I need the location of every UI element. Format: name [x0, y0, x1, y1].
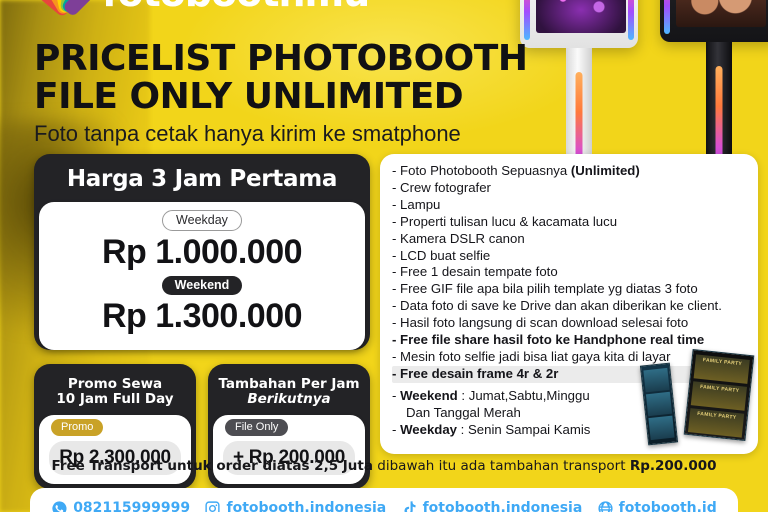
- photobooth-head: [520, 0, 638, 48]
- transport-bold-1: Free Transport untuk order diatas 2,5 Ju…: [51, 458, 373, 474]
- promo-title-line-1: Tambahan Per Jam: [218, 376, 359, 392]
- social-link-tiktok[interactable]: fotobooth.indonesia: [401, 500, 583, 512]
- social-footer: 082115999999fotobooth.indonesiafotobooth…: [30, 488, 738, 512]
- weekday-row: Weekday: [39, 210, 365, 231]
- whatsapp-icon: [51, 500, 68, 512]
- feature-item: - Hasil foto langsung di scan download s…: [392, 315, 748, 332]
- feature-item: - Lampu: [392, 197, 748, 214]
- feature-item: - Free GIF file apa bila pilih template …: [392, 281, 748, 298]
- feature-item: - Free file share hasil foto ke Handphon…: [392, 332, 748, 349]
- feature-emphasis: (Unlimited): [571, 163, 640, 178]
- features-panel: - Foto Photobooth Sepuasnya (Unlimited)-…: [380, 154, 758, 454]
- promo-badge: File Only: [225, 419, 288, 436]
- promo-title: Tambahan Per Jam Berikutnya: [208, 370, 370, 415]
- photo-strip-vertical: [640, 363, 678, 446]
- main-price-title: Harga 3 Jam Pertama: [34, 160, 370, 202]
- promo-badge-row: Promo: [39, 415, 191, 441]
- transport-note: Free Transport untuk order diatas 2,5 Ju…: [0, 458, 768, 474]
- page-title: PRICELIST PHOTOBOOTH FILE ONLY UNLIMITED…: [34, 40, 527, 147]
- led-strip-right: [628, 0, 634, 40]
- photobooth-screen: [536, 0, 626, 33]
- promo-title: Promo Sewa 10 Jam Full Day: [34, 370, 196, 415]
- photobooth-head: [660, 0, 768, 42]
- weekend-badge: Weekend: [162, 276, 243, 295]
- feature-item: - Properti tulisan lucu & kacamata lucu: [392, 214, 748, 231]
- sample-photo-strips: FAMILY PARTY FAMILY PARTY FAMILY PARTY: [642, 356, 750, 448]
- photo-strip-frame: FAMILY PARTY FAMILY PARTY FAMILY PARTY: [684, 349, 755, 441]
- weekend-price: Rp 1.300.000: [39, 297, 365, 336]
- weekday-price: Rp 1.000.000: [39, 233, 365, 272]
- led-strip-left: [664, 0, 670, 34]
- promo-title-line-2: 10 Jam Full Day: [56, 391, 173, 407]
- social-link-globe[interactable]: fotobooth.id: [597, 500, 717, 512]
- promo-title-line-1: Promo Sewa: [68, 376, 162, 392]
- social-link-instagram[interactable]: fotobooth.indonesia: [204, 500, 386, 512]
- schedule-key: Weekend: [400, 388, 458, 403]
- transport-normal: dibawah itu ada tambahan transport: [373, 458, 630, 474]
- logo-mark-icon: [38, 0, 94, 12]
- tiktok-icon: [401, 500, 418, 512]
- feature-item: - Kamera DSLR canon: [392, 231, 748, 248]
- weekday-badge: Weekday: [162, 210, 242, 231]
- logo-text: fotoboothmu: [102, 0, 369, 12]
- social-label: 082115999999: [73, 500, 190, 512]
- brand-logo: fotoboothmu: [38, 0, 369, 12]
- promo-badge-row: File Only: [213, 415, 365, 441]
- transport-bold-2: Rp.200.000: [630, 458, 717, 474]
- promo-title-line-2: Berikutnya: [247, 391, 330, 407]
- main-price-body: Weekday Rp 1.000.000 Weekend Rp 1.300.00…: [39, 202, 365, 350]
- social-label: fotobooth.id: [619, 500, 717, 512]
- title-line-1: PRICELIST PHOTOBOOTH: [34, 40, 527, 78]
- feature-item: - Foto Photobooth Sepuasnya (Unlimited): [392, 163, 748, 180]
- pricing-column: Harga 3 Jam Pertama Weekday Rp 1.000.000…: [34, 154, 370, 489]
- title-line-2: FILE ONLY UNLIMITED: [34, 78, 527, 116]
- page-subtitle: Foto tanpa cetak hanya kirim ke smatphon…: [34, 121, 527, 147]
- promo-badge: Promo: [51, 419, 103, 436]
- instagram-icon: [204, 500, 221, 512]
- main-price-card: Harga 3 Jam Pertama Weekday Rp 1.000.000…: [34, 154, 370, 350]
- weekend-row: Weekend: [39, 276, 365, 295]
- social-label: fotobooth.indonesia: [226, 500, 386, 512]
- feature-item: - Free 1 desain tempate foto: [392, 264, 748, 281]
- photobooth-screen: [676, 0, 766, 27]
- globe-icon: [597, 500, 614, 512]
- social-label: fotobooth.indonesia: [423, 500, 583, 512]
- feature-item: - LCD buat selfie: [392, 248, 748, 265]
- schedule-key: Weekday: [400, 422, 457, 437]
- social-link-whatsapp[interactable]: 082115999999: [51, 500, 190, 512]
- feature-item: - Data foto di save ke Drive dan akan di…: [392, 298, 748, 315]
- led-strip-left: [524, 0, 530, 40]
- feature-item: - Crew fotografer: [392, 180, 748, 197]
